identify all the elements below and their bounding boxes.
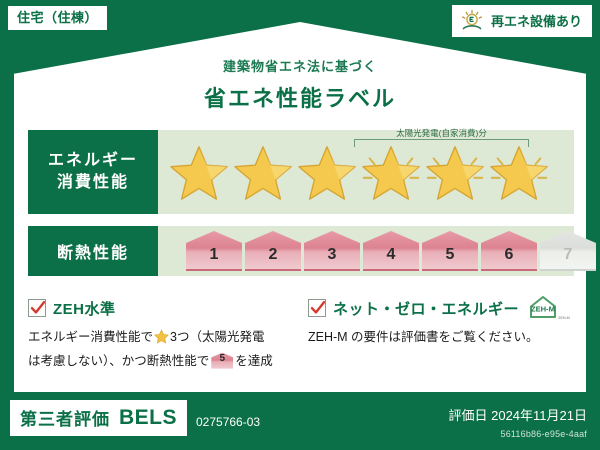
note-zeh-header: ZEH水準 <box>28 296 294 320</box>
star-icon <box>168 141 230 203</box>
page-title: 省エネ性能ラベル <box>0 81 600 113</box>
star-rating <box>158 130 574 214</box>
insulation-row-label: 断熱性能 <box>28 226 158 276</box>
zeh-desc-part3: は考慮しない）、かつ断熱性能で <box>28 354 209 368</box>
grade-value: 3 <box>328 246 337 271</box>
inline-grade-value: 5 <box>211 353 233 369</box>
net-zero-title: ネット・ゼロ・エネルギー <box>333 298 519 319</box>
energy-row-body: 太陽光発電(自家消費)分 <box>158 130 574 214</box>
star-icon-solar <box>360 141 422 203</box>
renewable-energy-badge: 再エネ設備あり <box>452 5 592 37</box>
insulation-row-body: 1234567 <box>158 226 574 276</box>
solar-sun-icon <box>459 9 485 33</box>
insulation-label-text: 断熱性能 <box>57 239 129 263</box>
certificate-number: 0275766-03 <box>196 415 260 429</box>
zeh-desc-part2: 3つ（太陽光発電 <box>170 330 264 344</box>
energy-performance-row: エネルギー 消費性能 太陽光発電(自家消費)分 <box>28 130 574 214</box>
building-type-chip: 住宅（住棟） <box>8 6 107 30</box>
insulation-grade-scale: 1234567 <box>158 226 574 276</box>
star-icon-solar <box>488 141 550 203</box>
insulation-grade-7: 7 <box>540 231 596 271</box>
zeh-desc-part4: を達成 <box>235 354 273 368</box>
grade-value: 2 <box>269 246 278 271</box>
note-nze-header: ネット・ゼロ・エネルギー ZEH-M ZEH-M <box>308 296 574 320</box>
svg-text:ZEH-M: ZEH-M <box>531 305 555 314</box>
bels-badge: 第三者評価 BELS <box>10 400 187 436</box>
svg-text:ZEH-M: ZEH-M <box>558 316 569 320</box>
evaluation-hash: 56116b86-e95e-4aaf <box>500 429 587 439</box>
grade-value: 7 <box>564 246 573 271</box>
note-zeh-standard: ZEH水準 エネルギー消費性能で3つ（太陽光発電 は考慮しない）、かつ断熱性能で… <box>28 296 294 371</box>
notes-section: ZEH水準 エネルギー消費性能で3つ（太陽光発電 は考慮しない）、かつ断熱性能で… <box>28 296 574 371</box>
zeh-checkbox[interactable] <box>28 299 46 317</box>
net-zero-checkbox[interactable] <box>308 299 326 317</box>
energy-label-line1: エネルギー <box>48 150 138 172</box>
energy-row-label: エネルギー 消費性能 <box>28 130 158 214</box>
bels-en-label: BELS <box>119 406 177 430</box>
insulation-grade-6: 6 <box>481 231 537 271</box>
title-subtitle: 建築物省エネ法に基づく <box>0 56 600 75</box>
zeh-m-house-logo-icon: ZEH-M ZEH-M <box>527 294 573 322</box>
insulation-grade-5: 5 <box>422 231 478 271</box>
renewable-badge-label: 再エネ設備あり <box>491 15 582 28</box>
zeh-title: ZEH水準 <box>53 298 116 319</box>
energy-performance-label: 住宅（住棟） 再エネ設備あり 建築物省エネ法に基づく 省エネ性能ラベル <box>0 0 600 450</box>
star-icon <box>232 141 294 203</box>
evaluation-date: 評価日 2024年11月21日 <box>449 405 588 424</box>
insulation-performance-row: 断熱性能 1234567 <box>28 226 574 276</box>
inline-grade-badge: 5 <box>211 353 233 369</box>
net-zero-description: ZEH-M の要件は評価書をご覧ください。 <box>308 327 574 348</box>
insulation-grade-2: 2 <box>245 231 301 271</box>
grade-value: 6 <box>505 246 514 271</box>
insulation-grade-4: 4 <box>363 231 419 271</box>
star-icon <box>296 141 358 203</box>
grade-value: 5 <box>446 246 455 271</box>
inline-star-icon <box>154 329 169 351</box>
grade-value: 4 <box>387 246 396 271</box>
energy-label-line2: 消費性能 <box>57 172 129 194</box>
zeh-description: エネルギー消費性能で3つ（太陽光発電 は考慮しない）、かつ断熱性能で5を達成 <box>28 327 294 371</box>
insulation-grade-3: 3 <box>304 231 360 271</box>
zeh-desc-part1: エネルギー消費性能で <box>28 330 153 344</box>
note-net-zero-energy: ネット・ゼロ・エネルギー ZEH-M ZEH-M ZEH-M の要件は評価書をご… <box>308 296 574 371</box>
grade-value: 1 <box>210 246 219 271</box>
insulation-grade-1: 1 <box>186 231 242 271</box>
title-block: 建築物省エネ法に基づく 省エネ性能ラベル <box>0 56 600 113</box>
star-icon-solar <box>424 141 486 203</box>
bels-jp-label: 第三者評価 <box>20 405 110 430</box>
